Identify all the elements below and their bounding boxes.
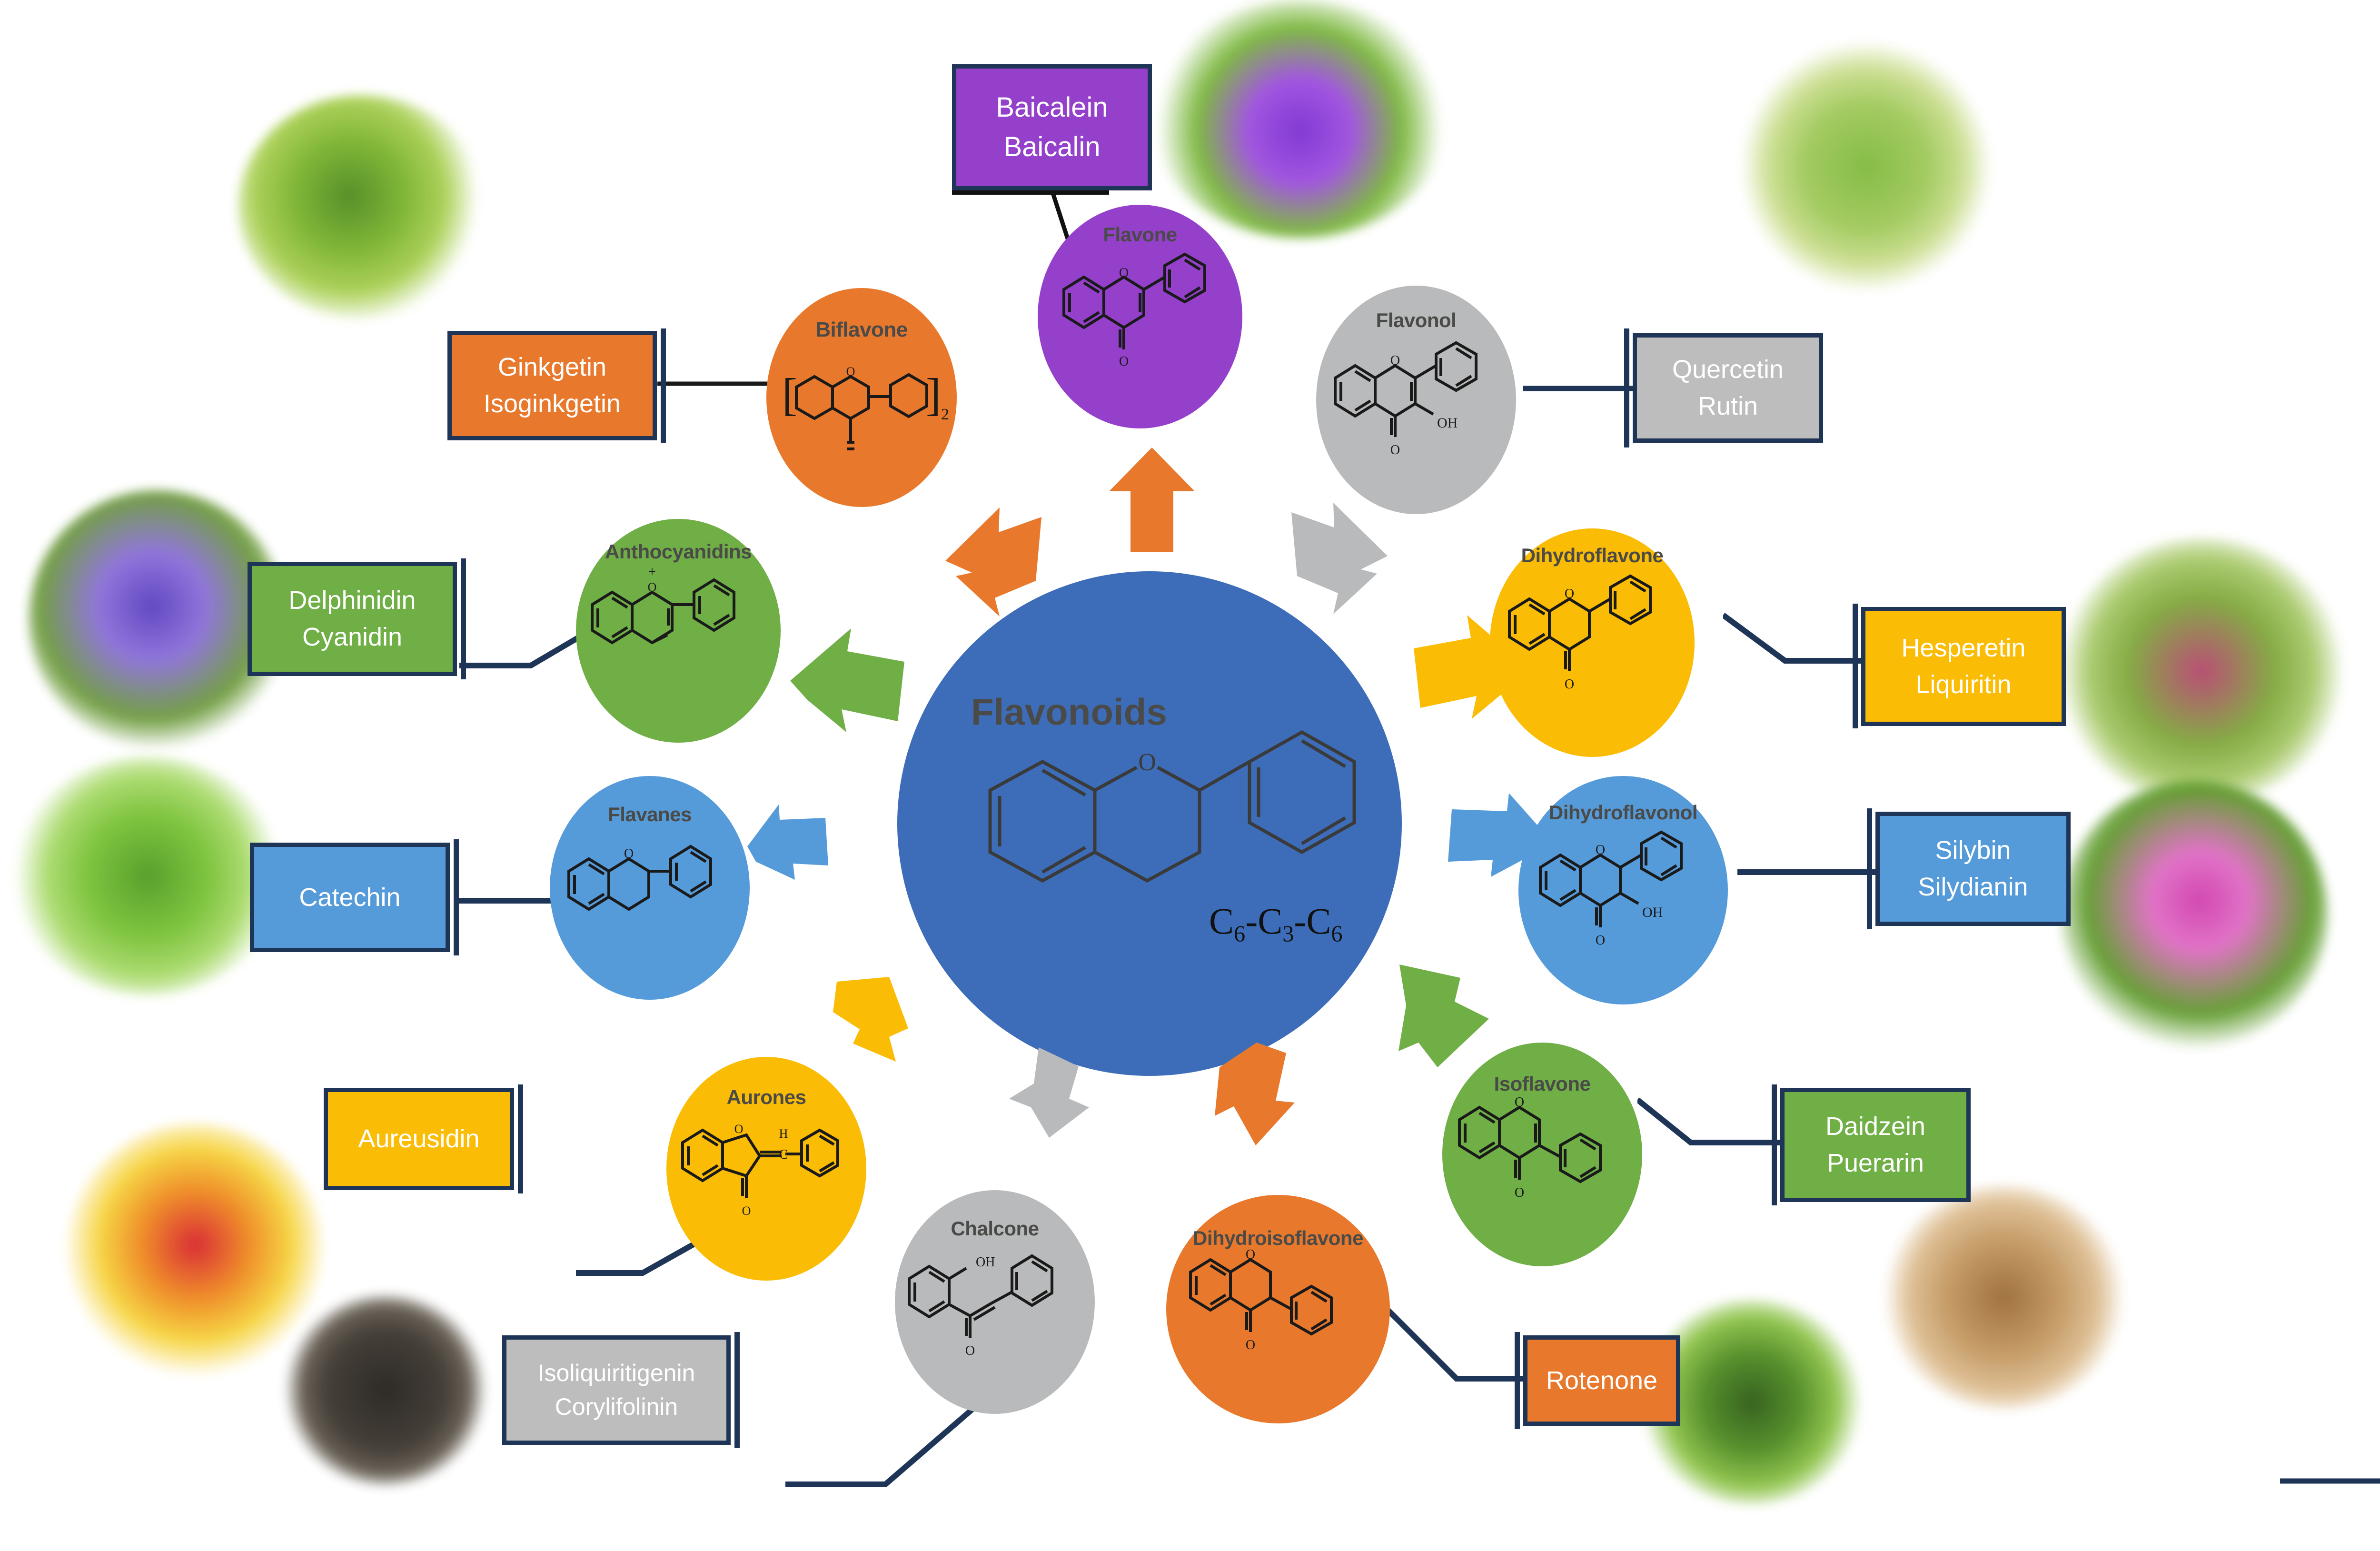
svg-text:O: O bbox=[1515, 1095, 1524, 1110]
drug-box-dihydroisoflavone[interactable]: Rotenone bbox=[1523, 1335, 1680, 1426]
drug-box-chalcone[interactable]: Isoliquiritigenin Corylifolinin bbox=[502, 1335, 731, 1445]
drug-box-flavonol[interactable]: Quercetin Rutin bbox=[1633, 333, 1823, 443]
connector-isoliquiritigenin bbox=[785, 1400, 976, 1490]
class-label-chalcone: Chalcone bbox=[951, 1219, 1039, 1239]
drug-box-flavone[interactable]: Baicalein Baicalin bbox=[952, 64, 1152, 190]
tick-isoflavone bbox=[1772, 1084, 1777, 1205]
formula-c1: C bbox=[1209, 900, 1234, 942]
svg-text:O: O bbox=[742, 1204, 751, 1218]
drug-label-rotenone: Rotenone bbox=[1546, 1362, 1657, 1399]
drug-box-aurones[interactable]: Aureusidin bbox=[324, 1088, 514, 1190]
plant-photo-scutellaria bbox=[1152, 0, 1447, 238]
drug-label-isoliquiritigenin: Isoliquiritigenin bbox=[538, 1356, 695, 1390]
class-node-dihydroisoflavone[interactable]: Dihydroisoflavone O O bbox=[1166, 1195, 1390, 1423]
svg-text:O: O bbox=[734, 1122, 744, 1136]
arrow-flavanes bbox=[747, 805, 852, 919]
svg-text:O: O bbox=[1515, 1185, 1524, 1200]
tick-dihydroflavone bbox=[1853, 604, 1858, 728]
drug-label-baicalein: Baicalein bbox=[996, 88, 1108, 127]
svg-text:O: O bbox=[624, 846, 634, 861]
drug-label-baicalin: Baicalin bbox=[1003, 128, 1100, 167]
drug-label-hesperetin: Hesperetin bbox=[1901, 630, 2025, 666]
tick-dihydroflavonol bbox=[1867, 808, 1872, 929]
dihydroisoflavone-structure: O O bbox=[1173, 1248, 1383, 1396]
flavone-structure: O O bbox=[1045, 248, 1235, 414]
class-label-dihydroflavonol: Dihydroflavonol bbox=[1549, 803, 1697, 823]
svg-text:O: O bbox=[965, 1343, 975, 1358]
arrow-isoflavone bbox=[1380, 962, 1495, 1076]
arrow-aurones bbox=[833, 976, 966, 1071]
formula-sub3: 6 bbox=[1331, 922, 1342, 947]
class-node-chalcone[interactable]: Chalcone OH O bbox=[895, 1190, 1095, 1414]
svg-text:O: O bbox=[1390, 353, 1400, 368]
center-formula: C6-C3-C6 bbox=[1209, 900, 1343, 947]
svg-text:O: O bbox=[1390, 443, 1400, 457]
plant-photo-antirrhinum bbox=[67, 1123, 324, 1376]
plant-photo-psoralea-seeds bbox=[286, 1295, 486, 1485]
svg-text:O: O bbox=[1119, 354, 1129, 369]
svg-text:O: O bbox=[1246, 1248, 1255, 1262]
class-node-flavanes[interactable]: Flavanes O bbox=[550, 776, 750, 1000]
class-label-flavone: Flavone bbox=[1103, 225, 1177, 245]
connector-hesperetin bbox=[1723, 609, 1861, 671]
plant-photo-tea bbox=[14, 757, 281, 995]
class-label-isoflavone: Isoflavone bbox=[1494, 1074, 1591, 1094]
arrow-dihydroisoflavone bbox=[1185, 1043, 1295, 1147]
arrow-biflavone bbox=[942, 505, 1045, 616]
class-label-aurones: Aurones bbox=[727, 1087, 806, 1107]
aurone-h-label: H bbox=[779, 1127, 788, 1141]
connector-quercetin bbox=[1523, 383, 1633, 394]
svg-text:O: O bbox=[1246, 1338, 1255, 1352]
drug-box-anthocyanidins[interactable]: Delphinidin Cyanidin bbox=[248, 562, 457, 676]
class-node-flavone[interactable]: Flavone O O bbox=[1038, 205, 1242, 428]
class-label-dihydroisoflavone: Dihydroisoflavone bbox=[1193, 1228, 1363, 1248]
formula-c3: -C bbox=[1294, 900, 1331, 942]
class-node-dihydroflavonol[interactable]: Dihydroflavonol O O OH bbox=[1518, 776, 1728, 1004]
drug-box-dihydroflavonol[interactable]: Silybin Silydianin bbox=[1875, 812, 2071, 926]
drug-label-cyanidin: Cyanidin bbox=[302, 619, 402, 656]
drug-label-liquiritin: Liquiritin bbox=[1915, 666, 2011, 703]
drug-box-biflavone[interactable]: Ginkgetin Isoginkgetin bbox=[447, 331, 657, 440]
svg-text:[: [ bbox=[782, 369, 797, 420]
biflavone-structure: O [ ] 2 bbox=[773, 349, 950, 468]
class-node-isoflavone[interactable]: Isoflavone O O bbox=[1442, 1043, 1642, 1266]
dihydroflavonol-structure: O O OH bbox=[1528, 825, 1718, 987]
drug-label-delphinidin: Delphinidin bbox=[288, 582, 416, 619]
arrow-anthocyanidins bbox=[790, 628, 909, 733]
arrow-flavone bbox=[1104, 447, 1200, 552]
class-node-flavonol[interactable]: Flavonol O O OH bbox=[1316, 286, 1516, 514]
plant-photo-silybum bbox=[2061, 781, 2328, 1047]
class-label-flavonol: Flavonol bbox=[1376, 310, 1457, 330]
svg-text:O: O bbox=[1565, 677, 1574, 692]
plant-photo-ginkgo bbox=[238, 95, 486, 319]
svg-text:O: O bbox=[1565, 587, 1574, 601]
anthocyanidin-plus-label: + bbox=[648, 565, 656, 579]
dihydroflavonol-oh-label: OH bbox=[1642, 905, 1663, 920]
drug-label-puerarin: Puerarin bbox=[1827, 1145, 1924, 1182]
connector-rotenone bbox=[1380, 1295, 1523, 1390]
drug-label-ginkgetin: Ginkgetin bbox=[498, 349, 606, 386]
drug-label-quercetin: Quercetin bbox=[1672, 351, 1784, 388]
drug-label-isoginkgetin: Isoginkgetin bbox=[484, 386, 621, 422]
drug-label-aureusidin: Aureusidin bbox=[358, 1121, 479, 1157]
tick-anthocyanidins bbox=[461, 558, 466, 679]
chalcone-oh-label: OH bbox=[976, 1255, 995, 1270]
connector-daidzein bbox=[1637, 1095, 1780, 1157]
tick-aurones bbox=[518, 1084, 523, 1193]
plant-photo-glycyrrhiza bbox=[2061, 538, 2342, 805]
class-label-biflavone: Biflavone bbox=[815, 319, 908, 340]
anthocyanidins-structure: O + bbox=[581, 564, 776, 716]
flavonoid-classification-diagram: O Flavonoids C6-C3-C6 bbox=[0, 0, 2380, 1551]
svg-text:O: O bbox=[846, 365, 855, 378]
class-node-dihydroflavone[interactable]: Dihydroflavone O O bbox=[1490, 528, 1695, 757]
tick-flavanes bbox=[454, 839, 459, 955]
class-label-anthocyanidins: Anthocyanidins bbox=[605, 542, 752, 562]
dihydroflavone-structure: O O bbox=[1497, 567, 1687, 734]
flavonol-structure: O O OH bbox=[1321, 334, 1511, 496]
svg-text:O: O bbox=[1596, 933, 1605, 948]
aurones-structure: O O C H bbox=[671, 1111, 862, 1254]
tick-chalcone bbox=[734, 1332, 740, 1448]
svg-text:O: O bbox=[648, 580, 657, 594]
arrow-flavonol bbox=[1288, 500, 1390, 614]
formula-sub2: 3 bbox=[1282, 922, 1294, 947]
isoflavone-structure: O O bbox=[1447, 1095, 1637, 1247]
svg-text:O: O bbox=[1119, 266, 1129, 280]
plant-photo-delphinium bbox=[29, 490, 286, 747]
formula-sub1: 6 bbox=[1234, 922, 1245, 947]
drug-box-dihydroflavone[interactable]: Hesperetin Liquiritin bbox=[1861, 607, 2066, 726]
center-flavan-structure: O bbox=[933, 695, 1418, 962]
svg-text:]: ] bbox=[926, 369, 941, 420]
class-label-dihydroflavone: Dihydroflavone bbox=[1521, 546, 1664, 566]
drug-box-flavanes[interactable]: Catechin bbox=[250, 843, 450, 952]
tick-biflavone bbox=[661, 328, 666, 443]
chalcone-structure: OH O bbox=[900, 1241, 1090, 1393]
plant-photo-sophora bbox=[1742, 43, 1990, 290]
svg-text:O: O bbox=[1138, 749, 1156, 776]
drug-label-silydianin: Silydianin bbox=[1918, 869, 2028, 905]
drug-label-corylifolinin: Corylifolinin bbox=[555, 1390, 678, 1424]
center-title: Flavonoids bbox=[971, 690, 1167, 734]
flavonol-oh-label: OH bbox=[1437, 415, 1458, 431]
arrow-chalcone bbox=[1009, 1047, 1123, 1143]
tick-dihydroisoflavone bbox=[1515, 1332, 1520, 1429]
class-label-flavanes: Flavanes bbox=[608, 805, 692, 825]
class-node-biflavone[interactable]: Biflavone O [ ] 2 bbox=[766, 288, 957, 507]
connector-ginkgetin bbox=[657, 378, 772, 389]
tick-flavonol bbox=[1624, 328, 1629, 447]
drug-box-isoflavone[interactable]: Daidzein Puerarin bbox=[1780, 1088, 1971, 1202]
connector-legend-drugs bbox=[2280, 1476, 2380, 1486]
biflavone-subscript: 2 bbox=[941, 406, 949, 423]
class-node-anthocyanidins[interactable]: Anthocyanidins O + bbox=[576, 519, 781, 743]
aurone-c-label: C bbox=[779, 1147, 788, 1162]
drug-label-rutin: Rutin bbox=[1698, 388, 1758, 425]
drug-label-silybin: Silybin bbox=[1935, 832, 2011, 869]
drug-label-daidzein: Daidzein bbox=[1825, 1108, 1925, 1145]
drug-label-catechin: Catechin bbox=[299, 879, 400, 916]
plant-photo-pueraria-root bbox=[1885, 1185, 2123, 1409]
svg-text:O: O bbox=[1596, 843, 1605, 857]
connector-silybin bbox=[1737, 866, 1875, 878]
formula-c2: -C bbox=[1245, 900, 1282, 942]
flavanes-structure: O bbox=[555, 829, 745, 982]
class-node-aurones[interactable]: Aurones O O C H bbox=[666, 1057, 866, 1281]
